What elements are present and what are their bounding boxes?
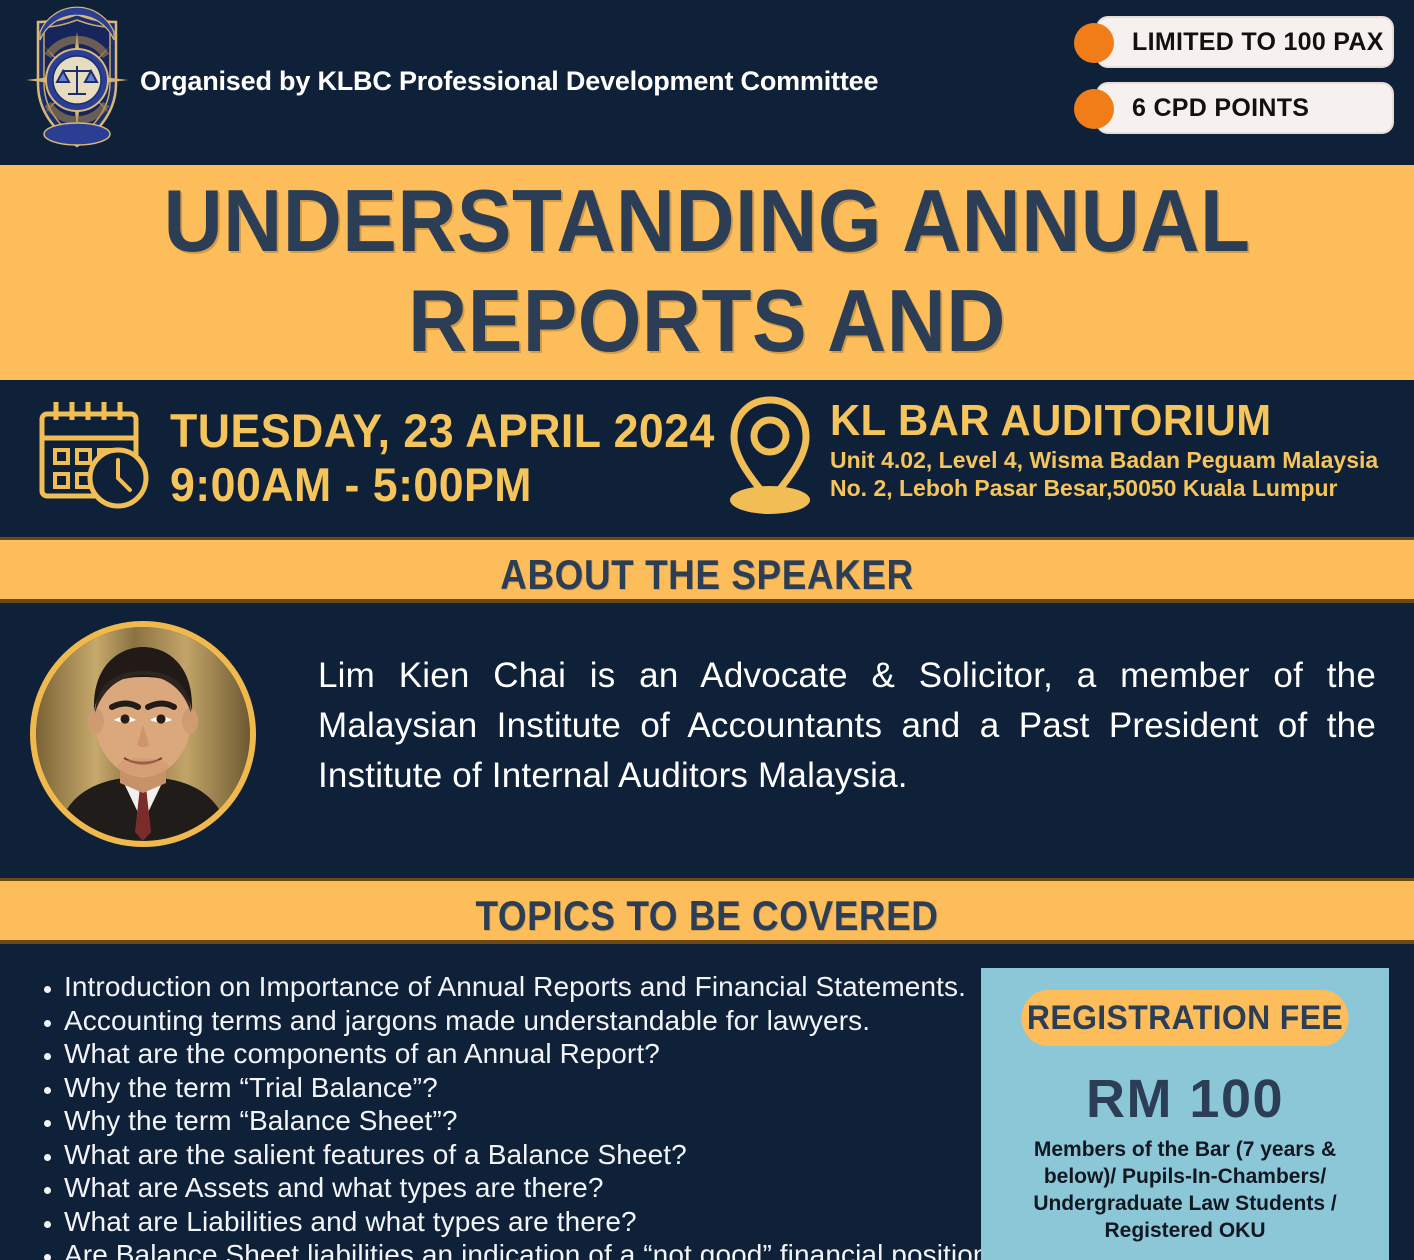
speaker-avatar xyxy=(30,621,256,847)
venue-name: KL BAR AUDITORIUM xyxy=(830,396,1351,446)
about-speaker-label: ABOUT THE SPEAKER xyxy=(85,551,1329,599)
event-date-block: TUESDAY, 23 APRIL 2024 9:00AM - 5:00PM xyxy=(30,394,700,524)
klbc-crest-logo xyxy=(18,6,136,154)
topic-list-item: Accounting terms and jargons made unders… xyxy=(64,1004,994,1038)
topics-list: Introduction on Importance of Annual Rep… xyxy=(28,970,994,1260)
topic-list-item: What are Assets and what types are there… xyxy=(64,1171,994,1205)
event-title-line1: UNDERSTANDING ANNUAL REPORTS AND xyxy=(49,171,1364,371)
badge-dot-icon xyxy=(1074,23,1114,63)
topic-list-item: Why the term “Trial Balance”? xyxy=(64,1071,994,1105)
topic-list-item: Why the term “Balance Sheet”? xyxy=(64,1104,994,1138)
organiser-label: Organised by KLBC Professional Developme… xyxy=(140,66,878,97)
location-pin-icon xyxy=(720,392,820,517)
event-date-line: TUESDAY, 23 APRIL 2024 xyxy=(170,404,715,458)
badge-cpd-points: 6 CPD POINTS xyxy=(1074,82,1394,134)
event-details-strip: TUESDAY, 23 APRIL 2024 9:00AM - 5:00PM K… xyxy=(0,380,1414,537)
event-venue-text: KL BAR AUDITORIUM Unit 4.02, Level 4, Wi… xyxy=(830,396,1378,502)
venue-address-line1: Unit 4.02, Level 4, Wisma Badan Peguam M… xyxy=(830,446,1378,474)
topic-list-item: What are the salient features of a Balan… xyxy=(64,1138,994,1172)
badge-dot-icon xyxy=(1074,89,1114,129)
event-time-line: 9:00AM - 5:00PM xyxy=(170,458,715,512)
speaker-section: Lim Kien Chai is an Advocate & Solicitor… xyxy=(0,603,1414,878)
registration-fee-card: REGISTRATION FEE RM 100 Members of the B… xyxy=(981,968,1389,1260)
about-speaker-banner: ABOUT THE SPEAKER xyxy=(0,537,1414,603)
title-banner: UNDERSTANDING ANNUAL REPORTS AND FINANCI… xyxy=(0,165,1414,384)
badge-limited-pax-label: LIMITED TO 100 PAX xyxy=(1132,16,1384,68)
event-venue-block: KL BAR AUDITORIUM Unit 4.02, Level 4, Wi… xyxy=(720,392,1400,527)
topic-list-item: What are the components of an Annual Rep… xyxy=(64,1037,994,1071)
event-date-text: TUESDAY, 23 APRIL 2024 9:00AM - 5:00PM xyxy=(170,404,744,512)
topic-list-item: Are Balance Sheet liabilities an indicat… xyxy=(64,1238,994,1260)
badge-group: LIMITED TO 100 PAX 6 CPD POINTS xyxy=(1074,16,1394,148)
registration-fee-amount: RM 100 xyxy=(981,1068,1389,1130)
speaker-bio: Lim Kien Chai is an Advocate & Solicitor… xyxy=(318,651,1376,801)
topic-list-item: Introduction on Importance of Annual Rep… xyxy=(64,970,994,1004)
header-bar: Organised by KLBC Professional Developme… xyxy=(0,0,1414,165)
topics-banner: TOPICS TO BE COVERED xyxy=(0,878,1414,944)
venue-address-line2: No. 2, Leboh Pasar Besar,50050 Kuala Lum… xyxy=(830,474,1378,502)
registration-fee-header: REGISTRATION FEE xyxy=(1021,990,1348,1046)
topic-list-item: What are Liabilities and what types are … xyxy=(64,1205,994,1239)
badge-cpd-points-label: 6 CPD POINTS xyxy=(1132,82,1309,134)
calendar-clock-icon xyxy=(30,394,162,514)
badge-limited-pax: LIMITED TO 100 PAX xyxy=(1074,16,1394,68)
speaker-portrait-image xyxy=(36,627,250,841)
topics-banner-label: TOPICS TO BE COVERED xyxy=(85,892,1329,940)
event-poster: Organised by KLBC Professional Developme… xyxy=(0,0,1414,1260)
registration-fee-description: Members of the Bar (7 years & below)/ Pu… xyxy=(995,1136,1375,1244)
